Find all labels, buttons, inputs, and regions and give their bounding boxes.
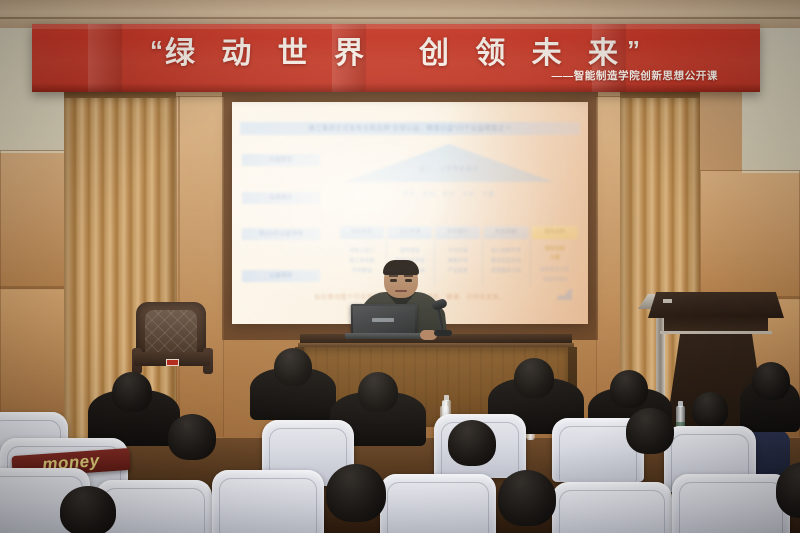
- wall-panel-right-upper: [700, 170, 800, 300]
- slide-chip-1: 文化传承: [388, 226, 432, 239]
- slide-cell-4-3: 节能环保技: [532, 277, 578, 285]
- presenter-eye-right: [405, 279, 412, 282]
- audience-head-b5: [610, 370, 648, 408]
- pyramid-sublabel: 绿色、创新、责任、共享、共赢: [344, 190, 554, 198]
- lecture-hall-photo: 振工集团正式发布全新品牌“全球公益、精准公益”15个公益项目之一 公益定位 品牌…: [0, 0, 800, 533]
- slide-cell-2-0: 乡村共建: [436, 248, 480, 256]
- banner-headline: “绿 动 世 界创 领 未 来”: [32, 28, 760, 72]
- slide-cell-3-0: 爱心捐赠专项: [484, 248, 528, 256]
- audience-head-f4: [60, 486, 116, 533]
- ceiling-seam: [0, 17, 800, 19]
- slide-cell-2-1: 美丽乡村: [436, 258, 480, 266]
- banner-quote-close: ”: [627, 35, 642, 65]
- presenter-eyebrow-right: [404, 275, 413, 277]
- audience-head-m2: [448, 420, 496, 466]
- audience-head-b7: [692, 392, 728, 428]
- presenter-mouth: [395, 290, 407, 292]
- slide-chip-0: 绿色教育: [340, 226, 384, 239]
- audience-head-b2: [112, 372, 152, 412]
- presenter-hair: [383, 260, 419, 275]
- presenter-eyebrow-left: [389, 275, 398, 277]
- wall-panel-mid-left: [176, 96, 224, 438]
- presenter-eye-left: [390, 279, 397, 282]
- slide-chip-4: 绿色创新: [532, 226, 578, 239]
- armchair-tufted-pad: [145, 310, 197, 352]
- slide-cell-0-0: 绿色公益行: [340, 248, 384, 256]
- slide-column-divider-2: [482, 228, 483, 286]
- laptop-logo: [372, 318, 394, 322]
- wall-seam-left: [178, 96, 180, 438]
- slide-cell-4-0: 绿色创新: [532, 246, 578, 254]
- podium-metal-band: [660, 331, 772, 334]
- seat-f4: [552, 482, 672, 533]
- slide-row-label-1: 品牌理念: [242, 192, 320, 204]
- slide-cell-4-1: 大赛: [532, 255, 578, 263]
- pyramid-label: 振工，让世界更美好: [344, 164, 554, 173]
- slide-cell-0-2: 乡村建设: [340, 268, 384, 276]
- slide-cell-4-2: 绿色智造工匠: [532, 267, 578, 275]
- slide-cell-2-2: 产业扶贫: [436, 268, 480, 276]
- seat-f5: [672, 474, 790, 533]
- audience-head-f1: [326, 464, 386, 522]
- audience-head-b3: [358, 372, 398, 412]
- slide-column-divider-1: [434, 228, 435, 286]
- slide-cell-3-1: 救灾应急支持: [484, 258, 528, 266]
- audience-head-m3: [626, 408, 674, 454]
- banner-phrase-1: 绿 动 世 界: [165, 37, 373, 70]
- banner-bottom-shadow: [32, 83, 760, 92]
- slide-cell-3-2: 志愿服务行动: [484, 268, 528, 276]
- banner-phrase-2: 创 领 未 来: [419, 37, 627, 70]
- slide-pyramid-graphic: 振工，让世界更美好: [344, 144, 554, 182]
- audience-head-b4: [514, 358, 554, 398]
- podium-top: [648, 292, 784, 318]
- banner-subtitle: ——智能制造学院创新思想公开课: [552, 68, 719, 83]
- event-banner: “绿 动 世 界创 领 未 来” ——智能制造学院创新思想公开课: [32, 24, 760, 92]
- slide-cell-0-1: 振工奖学金: [340, 258, 384, 266]
- audience-head-b6: [752, 362, 790, 400]
- pyramid-shape: [344, 144, 554, 182]
- audience-head-b1: [274, 348, 312, 386]
- laptop-keyboard-base: [345, 333, 425, 339]
- slide-title: 振工集团正式发布全新品牌“全球公益、精准公益”15个公益项目之一: [240, 122, 580, 135]
- armchair-red-label: [166, 359, 179, 366]
- podium-plaque: [663, 299, 672, 303]
- banner-quote-open: “: [150, 35, 165, 65]
- audience-head-f2: [498, 470, 556, 526]
- audience-head-m1: [168, 414, 216, 460]
- seat-f3: [380, 474, 496, 533]
- wall-moulding-left: [0, 286, 70, 288]
- slide-row-label-2: 核心5大公益领域: [242, 228, 320, 240]
- slide-chip-3: 社会贡献: [484, 226, 528, 239]
- seat-f2: [212, 470, 324, 533]
- slide-chip-2: 乡村振兴: [436, 226, 480, 239]
- slide-row-label-0: 公益定位: [242, 154, 320, 166]
- slide-cell-1-0: 国学课堂: [388, 248, 432, 256]
- wall-panel-left-upper: [0, 150, 66, 290]
- microphone-base: [434, 330, 452, 336]
- slide-column-divider-3: [530, 228, 531, 286]
- slide-row-label-3: 公益项目: [242, 270, 320, 282]
